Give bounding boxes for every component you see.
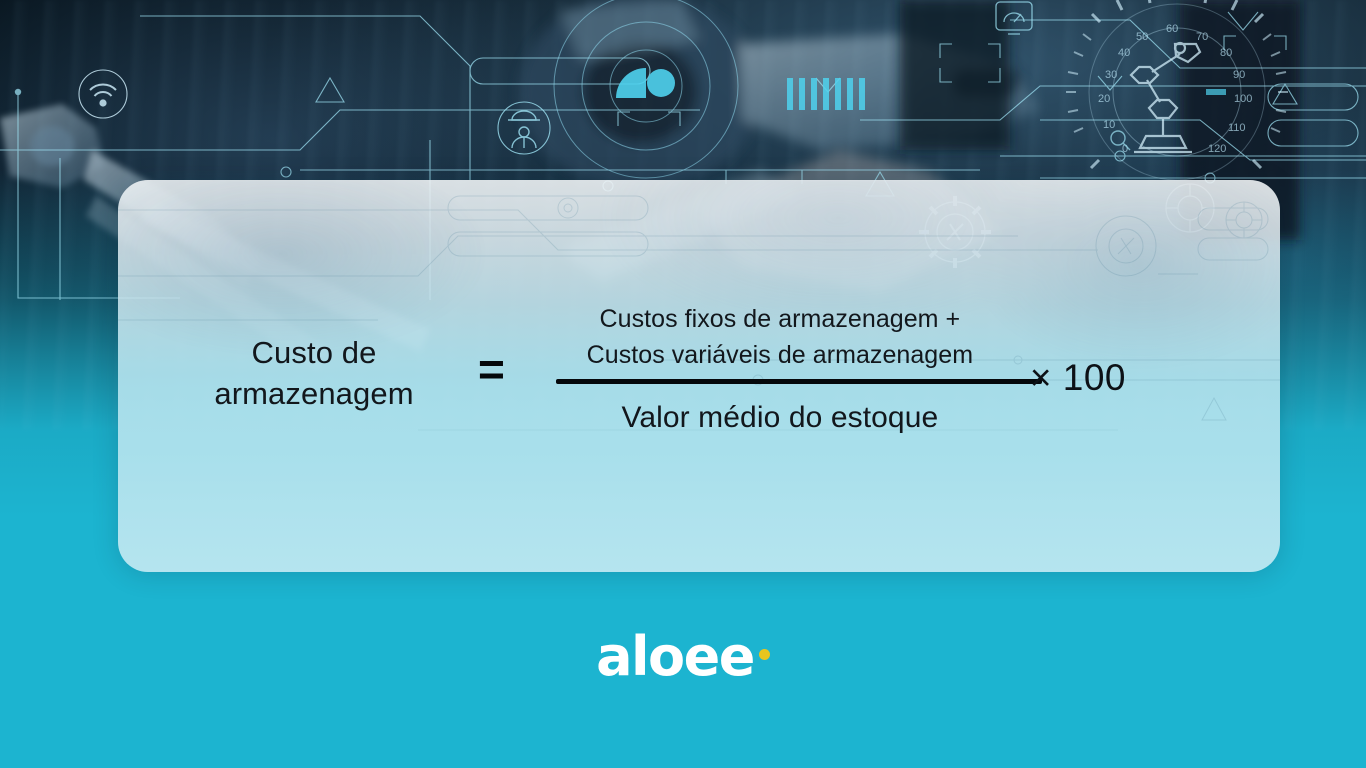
fraction-denominator: Valor médio do estoque bbox=[556, 384, 1004, 439]
fraction-numerator: Custos fixos de armazenagem + Custos var… bbox=[556, 302, 1004, 379]
fraction: Custos fixos de armazenagem + Custos var… bbox=[504, 302, 1004, 439]
svg-text:70: 70 bbox=[1196, 31, 1208, 43]
equals-sign: = bbox=[464, 302, 504, 392]
brand-logo-word: aloee bbox=[596, 630, 754, 684]
brand-logo[interactable]: aloee bbox=[0, 630, 1366, 684]
gauge-dial-icon: 506070 4080 3090 20100 10110 0120 bbox=[1066, 0, 1288, 180]
svg-text:50: 50 bbox=[1136, 31, 1148, 43]
svg-text:110: 110 bbox=[1228, 122, 1246, 134]
svg-text:100: 100 bbox=[1234, 93, 1252, 105]
svg-text:40: 40 bbox=[1118, 47, 1130, 59]
formula-card: Custo de armazenagem = Custos fixos de a… bbox=[118, 180, 1280, 572]
svg-text:10: 10 bbox=[1103, 119, 1115, 131]
svg-text:80: 80 bbox=[1220, 47, 1232, 59]
monitor-gauge-icon bbox=[996, 2, 1032, 34]
formula-expression: Custo de armazenagem = Custos fixos de a… bbox=[118, 180, 1280, 572]
svg-text:60: 60 bbox=[1166, 23, 1178, 35]
numerator-line1: Custos fixos de armazenagem + bbox=[556, 302, 1004, 338]
left-label-line1: Custo de bbox=[164, 332, 464, 373]
multiplier: × 100 bbox=[1004, 302, 1126, 396]
brand-logo-dot bbox=[759, 649, 770, 660]
svg-text:90: 90 bbox=[1233, 69, 1245, 81]
robot-arm-icon bbox=[1131, 43, 1200, 152]
svg-text:20: 20 bbox=[1098, 93, 1110, 105]
svg-text:30: 30 bbox=[1105, 69, 1117, 81]
numerator-line2: Custos variáveis de armazenagem bbox=[556, 338, 1004, 374]
left-label-line2: armazenagem bbox=[164, 373, 464, 414]
formula-left-label: Custo de armazenagem bbox=[164, 302, 464, 414]
search-icon bbox=[1111, 131, 1130, 150]
pie-wedge-icon bbox=[616, 68, 675, 98]
wifi-icon bbox=[79, 70, 127, 118]
equalizer-bars bbox=[790, 78, 862, 110]
svg-text:120: 120 bbox=[1208, 143, 1226, 155]
